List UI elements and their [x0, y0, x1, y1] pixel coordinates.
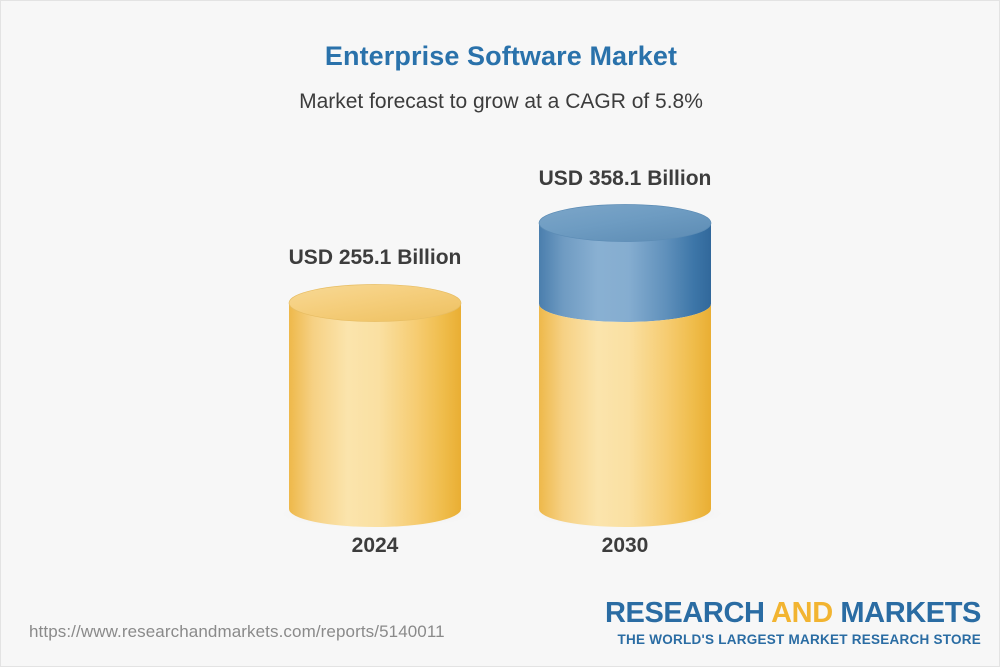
cylinder-2030[interactable]: [527, 191, 723, 533]
bar-group-2024: [277, 271, 473, 533]
brand-word-and: AND: [771, 597, 840, 629]
brand-word-markets: MARKETS: [840, 597, 981, 629]
category-label-2030: 2030: [525, 534, 725, 558]
brand-word-research: RESEARCH: [605, 597, 771, 629]
cylinder-2024[interactable]: [277, 271, 473, 533]
brand-name: RESEARCH AND MARKETS: [605, 599, 981, 628]
brand-tagline: THE WORLD'S LARGEST MARKET RESEARCH STOR…: [605, 632, 981, 647]
chart-canvas: Enterprise Software Market Market foreca…: [0, 0, 1000, 667]
plot-area: USD 255.1 Billion 2024: [1, 1, 1000, 601]
bar-group-2030: [527, 191, 723, 533]
brand-logo[interactable]: RESEARCH AND MARKETS THE WORLD'S LARGEST…: [605, 599, 981, 647]
report-url[interactable]: https://www.researchandmarkets.com/repor…: [29, 622, 445, 642]
category-label-2024: 2024: [275, 534, 475, 558]
value-label-2030: USD 358.1 Billion: [525, 167, 725, 191]
value-label-2024: USD 255.1 Billion: [275, 246, 475, 270]
